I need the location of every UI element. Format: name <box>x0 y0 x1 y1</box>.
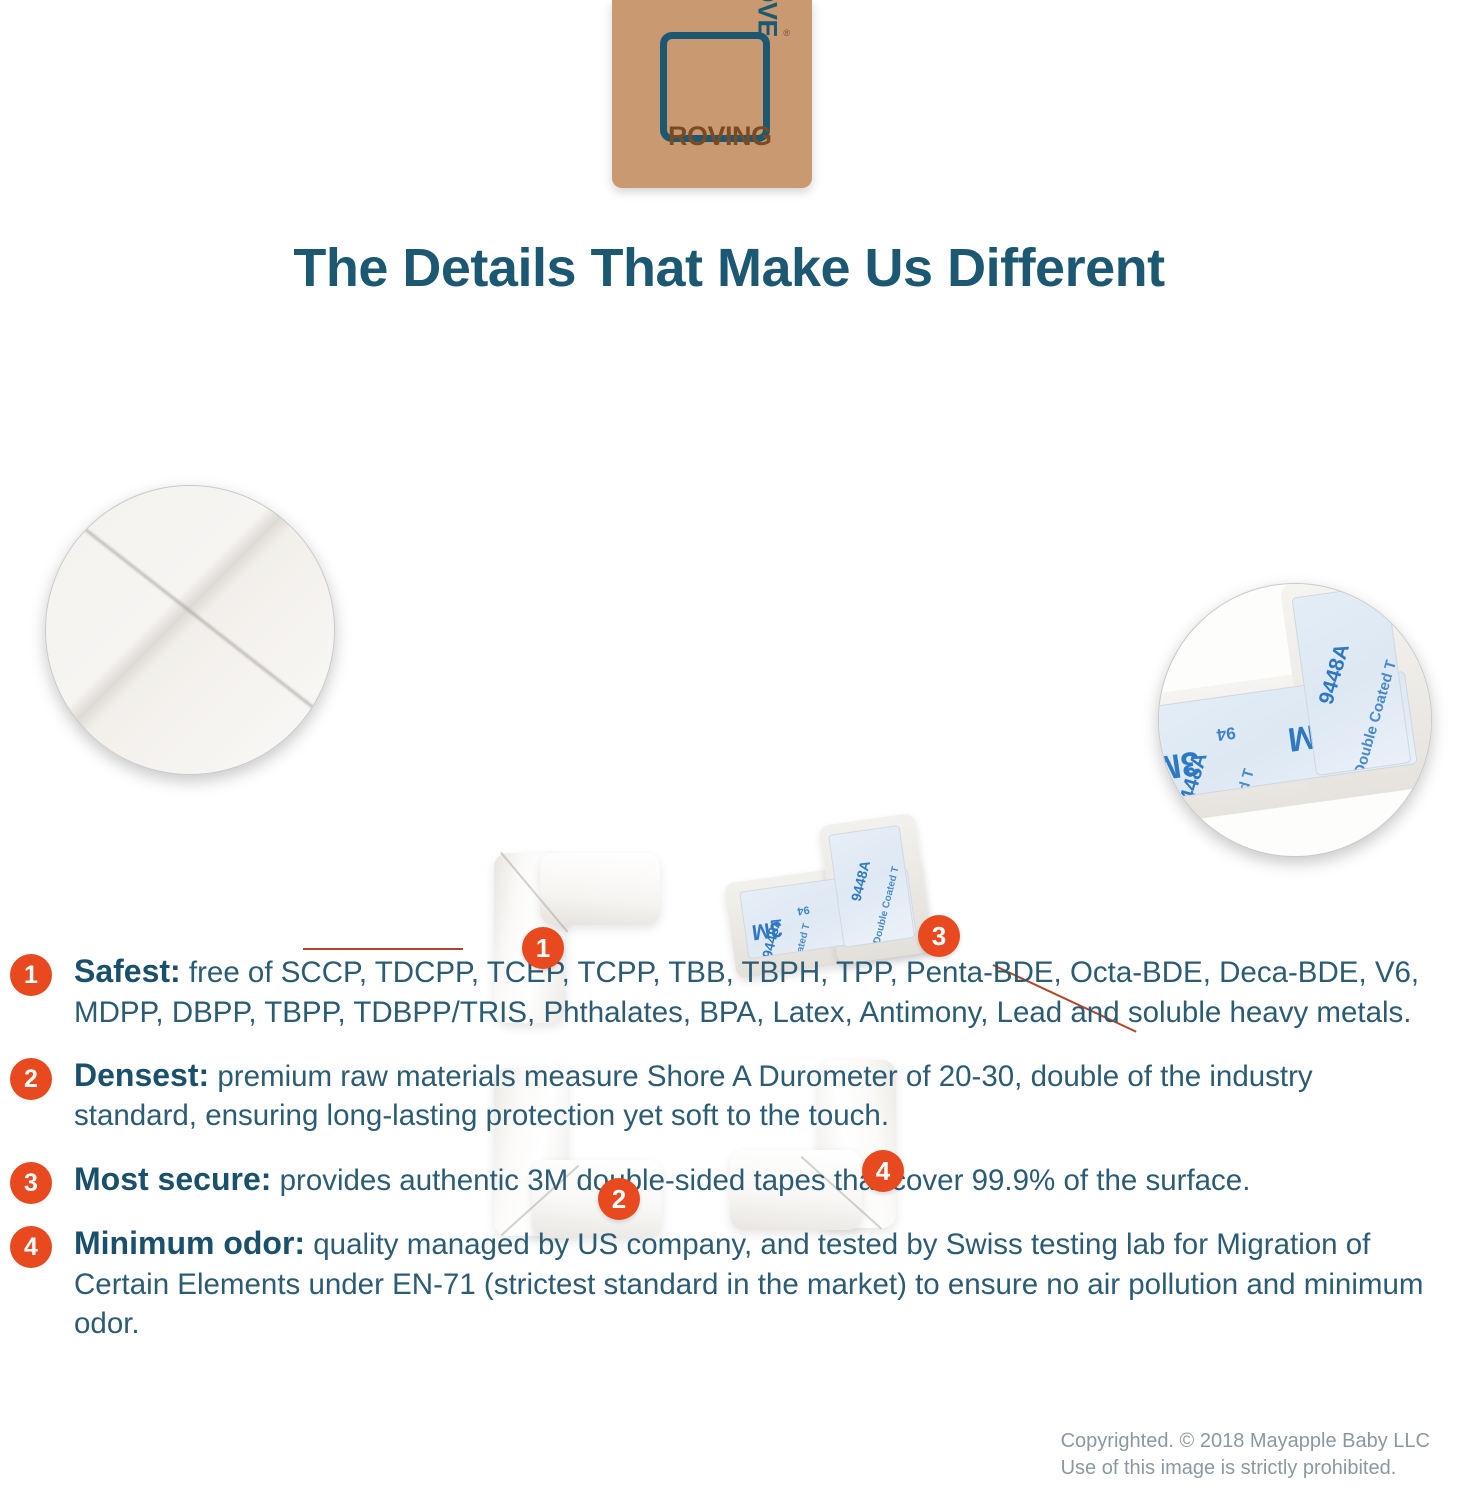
page-title: The Details That Make Us Different <box>0 237 1458 299</box>
guard3-tape-code-short: 94 <box>797 903 811 916</box>
feature-lead-4: Minimum odor: <box>74 1225 305 1261</box>
guard3-tape-descriptor-2: Double Coated T <box>873 866 902 946</box>
tape-descriptor-label-2: Double Coated T <box>1352 658 1399 776</box>
feature-item-2: 2 Densest: premium raw materials measure… <box>0 1054 1458 1136</box>
feature-item-1: 1 Safest: free of SCCP, TDCPP, TCEP, TCP… <box>0 950 1458 1032</box>
logo-text-cove: COVE <box>754 0 781 37</box>
guard1-arm-horizontal <box>540 853 660 925</box>
magnified-3m-tape-circle: 3M 94 3M Double Coated T 9448A Double Co… <box>1158 583 1432 857</box>
feature-text-3: Most secure: provides authentic 3M doubl… <box>74 1158 1458 1201</box>
logo-text-roving: ROVING <box>668 123 772 150</box>
feature-lead-3: Most secure: <box>74 1161 271 1197</box>
feature-number-badge-4: 4 <box>10 1226 52 1268</box>
product-badge-2: 2 <box>598 1178 640 1220</box>
copyright-notice: Copyrighted. © 2018 Mayapple Baby LLC Us… <box>1061 1428 1430 1482</box>
brand-logo: ROVING COVE ® <box>612 0 812 188</box>
feature-lead-2: Densest: <box>74 1057 209 1093</box>
feature-body-3: provides authentic 3M double-sided tapes… <box>271 1164 1250 1197</box>
registered-trademark-icon: ® <box>783 28 790 38</box>
foam-seam-line <box>50 501 335 762</box>
feature-number-badge-2: 2 <box>10 1058 52 1100</box>
feature-list: 1 Safest: free of SCCP, TDCPP, TCEP, TCP… <box>0 950 1458 1365</box>
tape-product-code-label-2: 9448A <box>1316 641 1353 706</box>
product-badge-1: 1 <box>522 927 564 969</box>
feature-lead-1: Safest: <box>74 953 181 989</box>
copyright-line-2: Use of this image is strictly prohibited… <box>1061 1455 1430 1482</box>
feature-item-4: 4 Minimum odor: quality managed by US co… <box>0 1222 1458 1343</box>
feature-text-4: Minimum odor: quality managed by US comp… <box>74 1222 1458 1343</box>
guard3-tape-product-code-2: 9448A <box>849 859 873 902</box>
feature-number-badge-1: 1 <box>10 954 52 996</box>
copyright-line-1: Copyrighted. © 2018 Mayapple Baby LLC <box>1061 1428 1430 1455</box>
feature-body-2: premium raw materials measure Shore A Du… <box>74 1060 1313 1133</box>
feature-body-1: free of SCCP, TDCPP, TCEP, TCPP, TBB, TB… <box>74 956 1419 1029</box>
feature-item-3: 3 Most secure: provides authentic 3M dou… <box>0 1158 1458 1201</box>
feature-text-1: Safest: free of SCCP, TDCPP, TCEP, TCPP,… <box>74 950 1458 1032</box>
product-badge-3: 3 <box>918 915 960 957</box>
feature-text-2: Densest: premium raw materials measure S… <box>74 1054 1458 1136</box>
magnified-foam-surface-circle <box>45 485 335 775</box>
tape-code-short-label: 94 <box>1216 724 1237 743</box>
product-badge-4: 4 <box>862 1150 904 1192</box>
product-showcase: 3M 94 3M Double Coated T 9448A Double Co… <box>0 400 1458 900</box>
feature-number-badge-3: 3 <box>10 1162 52 1204</box>
